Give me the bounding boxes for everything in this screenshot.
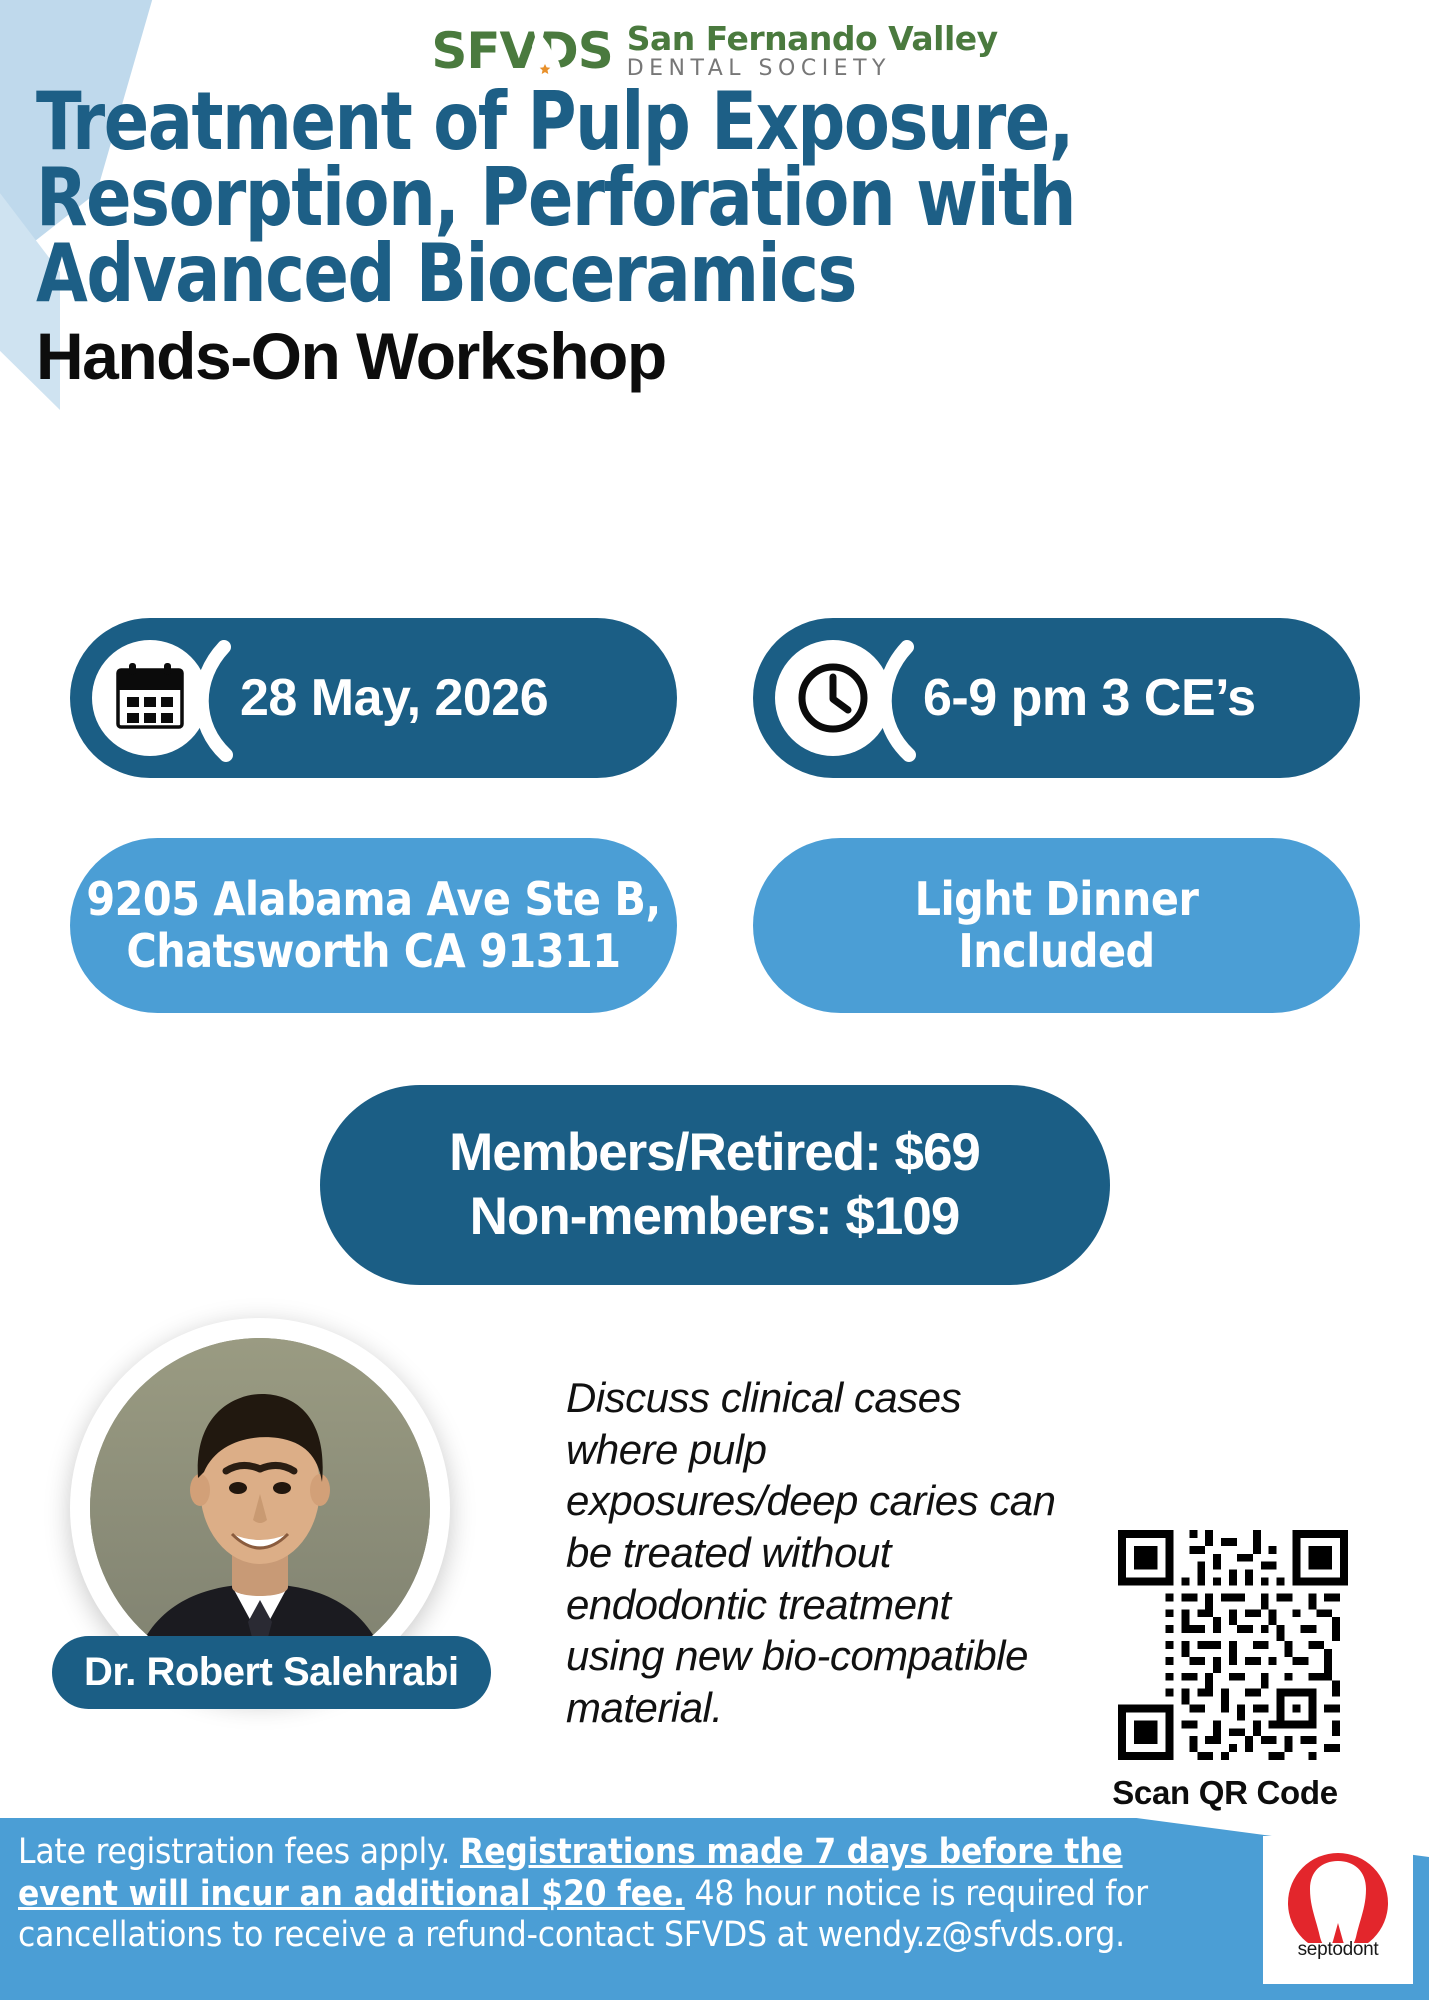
organization-logo: SFVDS San Fernando Valley DENTAL SOCIETY (0, 22, 1429, 80)
event-flyer: SFVDS San Fernando Valley DENTAL SOCIETY… (0, 0, 1429, 2000)
venue-amenity-row: 9205 Alabama Ave Ste B, Chatsworth CA 91… (70, 838, 1360, 1013)
dinner-line-2: Included (915, 926, 1199, 978)
logo-mark: SFVDS (431, 26, 612, 76)
septodont-tooth-logo: septodont (1263, 1836, 1413, 1984)
address-line-2: Chatsworth CA 91311 (86, 926, 660, 978)
california-state-outline-icon (529, 28, 563, 78)
speaker-headshot (90, 1338, 430, 1678)
dinner-line-1: Light Dinner (915, 874, 1199, 926)
address-text: 9205 Alabama Ave Ste B, Chatsworth CA 91… (86, 874, 660, 977)
qr-block: Scan QR Code (1118, 1530, 1348, 1812)
address-pill: 9205 Alabama Ave Ste B, Chatsworth CA 91… (70, 838, 677, 1013)
time-value: 6-9 pm 3 CE’s (923, 668, 1256, 728)
title-line-2: Resorption, Perforation with (36, 160, 1301, 236)
qr-label: Scan QR Code (1110, 1774, 1340, 1812)
clock-icon (775, 640, 891, 756)
address-line-1: 9205 Alabama Ave Ste B, (86, 874, 660, 926)
date-value: 28 May, 2026 (240, 668, 548, 728)
title-subtitle: Hands-On Workshop (36, 322, 1396, 391)
speaker-block: Dr. Robert Salehrabi (70, 1318, 450, 1698)
date-pill: 28 May, 2026 (70, 618, 677, 778)
course-description: Discuss clinical cases where pulp exposu… (566, 1372, 1056, 1734)
price-nonmembers: Non-members: $109 (470, 1185, 960, 1249)
pricing-row: Members/Retired: $69 Non-members: $109 (0, 1085, 1429, 1285)
title-line-1: Treatment of Pulp Exposure, (36, 84, 1301, 160)
date-time-row: 28 May, 2026 6-9 pm 3 CE’s (70, 618, 1360, 778)
time-pill: 6-9 pm 3 CE’s (753, 618, 1360, 778)
page-title: Treatment of Pulp Exposure, Resorption, … (36, 84, 1396, 391)
dinner-text: Light Dinner Included (915, 874, 1199, 977)
pricing-pill: Members/Retired: $69 Non-members: $109 (320, 1085, 1110, 1285)
logo-org-name: San Fernando Valley (627, 22, 998, 55)
price-members: Members/Retired: $69 (449, 1121, 980, 1185)
footer-text-part1: Late registration fees apply. (18, 1832, 460, 1872)
septodont-wordmark: septodont (1272, 1939, 1404, 1961)
title-line-3: Advanced Bioceramics (36, 236, 1301, 312)
qr-code[interactable] (1118, 1530, 1348, 1760)
logo-mark-text: SFVDS (431, 22, 612, 80)
speaker-name-badge: Dr. Robert Salehrabi (52, 1636, 491, 1709)
calendar-icon (92, 640, 208, 756)
dinner-pill: Light Dinner Included (753, 838, 1360, 1013)
footer-bar: Late registration fees apply. Registrati… (0, 1818, 1429, 2000)
logo-wordmark: San Fernando Valley DENTAL SOCIETY (627, 22, 998, 80)
footer-policy-text: Late registration fees apply. Registrati… (18, 1832, 1168, 1957)
